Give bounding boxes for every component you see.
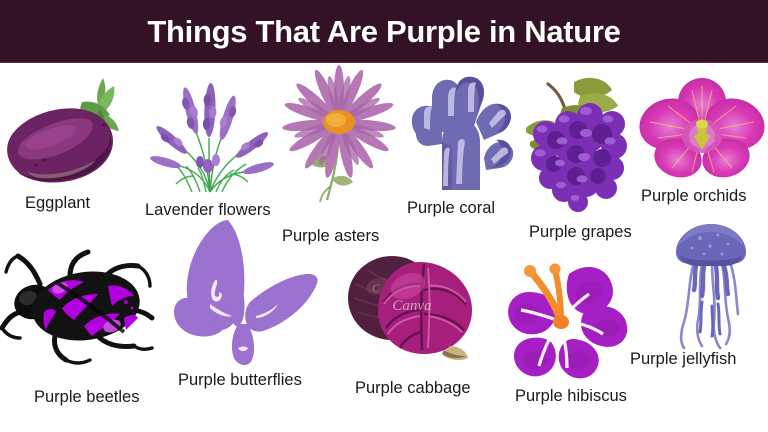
purple-orchid-icon — [638, 74, 768, 184]
purple-hibiscus-icon — [493, 256, 641, 382]
label-purple-hibiscus: Purple hibiscus — [515, 388, 627, 405]
purple-butterfly-icon — [170, 218, 325, 366]
poster-header: Things That Are Purple in Nature — [0, 0, 768, 63]
label-purple-orchids: Purple orchids — [641, 188, 746, 205]
purple-cabbage-icon: Canva C — [334, 250, 489, 368]
cabbage-watermark-text: Canva — [392, 298, 431, 314]
label-lavender-flowers: Lavender flowers — [145, 202, 271, 219]
header-divider — [0, 62, 768, 63]
label-purple-butterflies: Purple butterflies — [178, 372, 302, 389]
label-purple-jellyfish: Purple jellyfish — [630, 351, 736, 368]
poster-canvas: Things That Are Purple in Nature — [0, 0, 768, 432]
purple-grapes-icon — [518, 72, 643, 212]
purple-jellyfish-icon — [666, 222, 756, 350]
svg-text:C: C — [372, 281, 381, 295]
purple-aster-icon — [283, 74, 403, 204]
label-purple-grapes: Purple grapes — [529, 224, 632, 241]
label-purple-cabbage: Purple cabbage — [355, 380, 471, 397]
eggplant-icon — [0, 72, 140, 190]
label-purple-coral: Purple coral — [407, 200, 495, 217]
lavender-flowers-icon — [152, 74, 270, 194]
label-eggplant: Eggplant — [25, 195, 90, 212]
label-purple-beetles: Purple beetles — [34, 389, 140, 406]
purple-coral-icon — [398, 72, 523, 194]
page-title: Things That Are Purple in Nature — [147, 16, 620, 47]
purple-beetle-icon — [0, 250, 165, 372]
